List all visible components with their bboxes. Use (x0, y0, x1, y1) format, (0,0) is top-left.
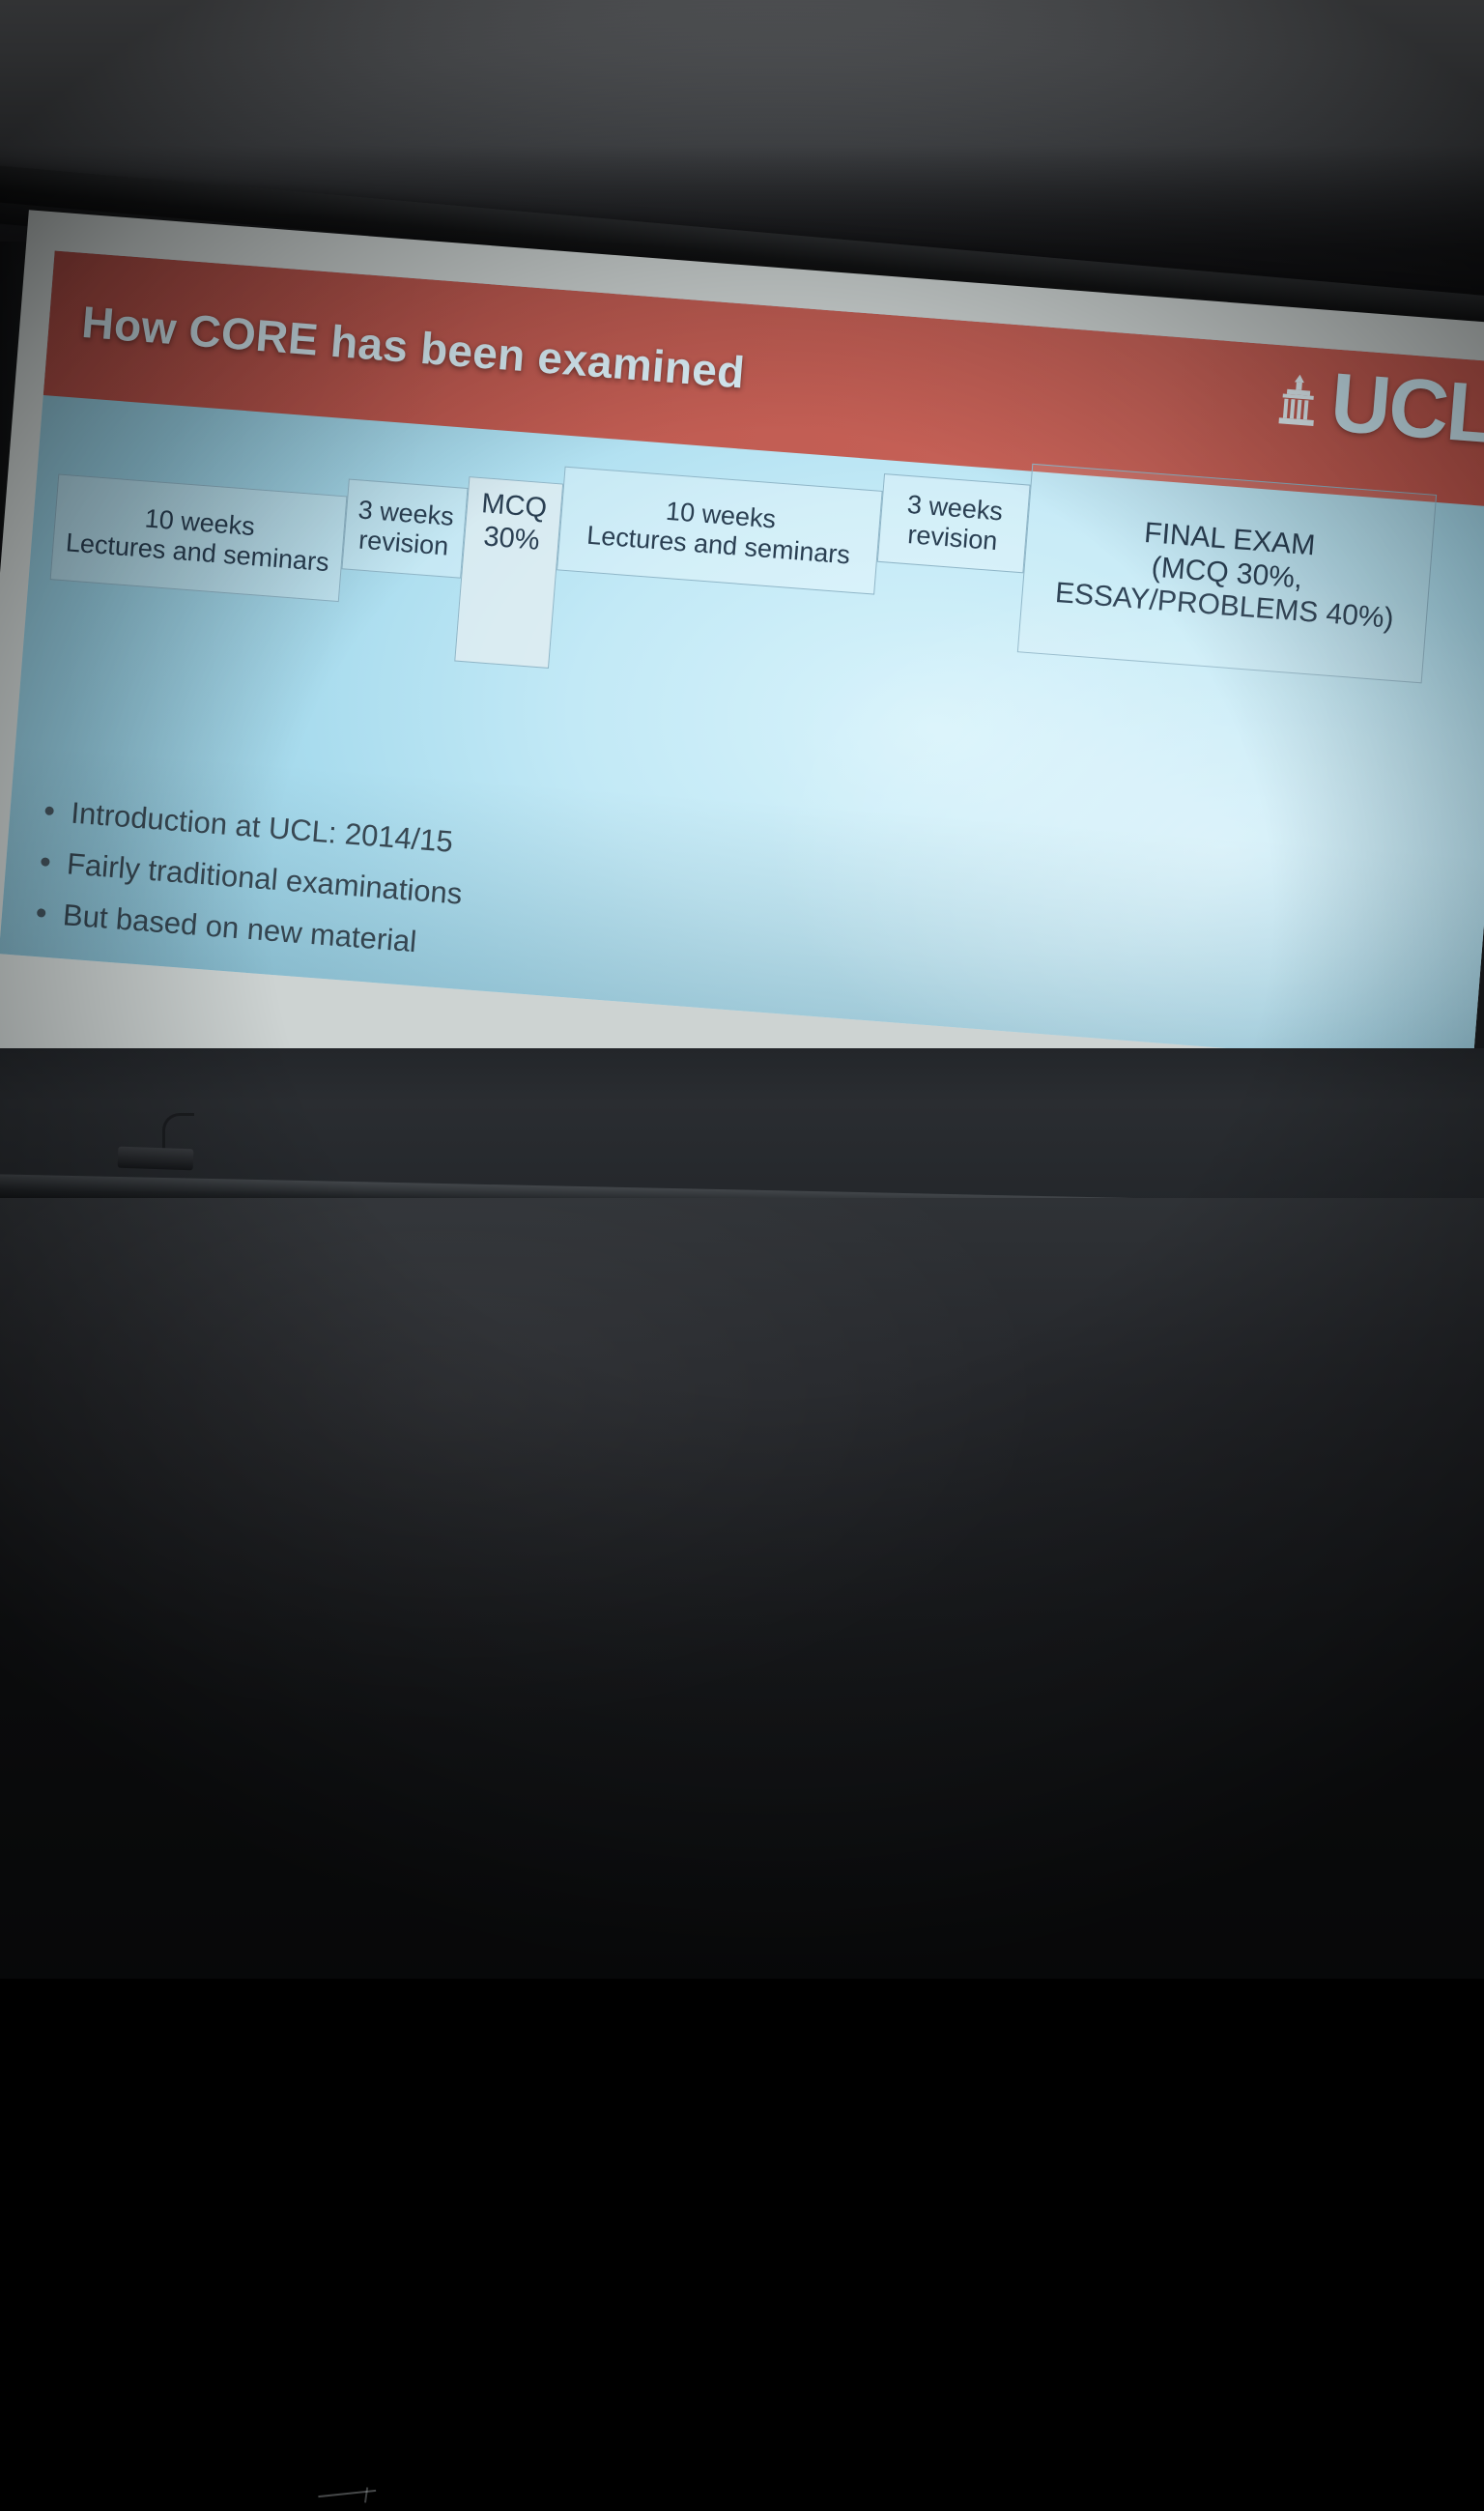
board-scuff-mark (364, 2487, 389, 2505)
table-cell-weeks10a: 10 weeks Lectures and seminars (50, 473, 348, 602)
whiteboard-marker (118, 1147, 194, 1171)
slide-bullet-list: Introduction at UCL: 2014/15 Fairly trad… (35, 792, 914, 1012)
cell-line2: revision (357, 526, 449, 561)
bullet-dot-icon (44, 806, 54, 815)
ucl-portico-icon (1271, 371, 1326, 429)
table-cell-revision3b: 3 weeks revision (877, 473, 1031, 573)
bullet-dot-icon (41, 857, 50, 867)
cell-line2: revision (906, 520, 998, 556)
lecture-room-background: How CORE has been examined (0, 0, 1484, 1979)
cell-line1: MCQ (480, 488, 548, 524)
bullet-text: But based on new material (62, 897, 418, 961)
cell-line2: 30% (482, 521, 540, 556)
cell-line2: (MCQ 30%, ESSAY/PROBLEMS 40%) (1054, 551, 1395, 635)
whiteboard-lower-panel (0, 1198, 1484, 1979)
presentation-slide: How CORE has been examined (0, 250, 1484, 1067)
slide-title: How CORE has been examined (80, 296, 747, 399)
ucl-logo: UCL (1270, 357, 1484, 456)
ucl-wordmark: UCL (1327, 360, 1484, 456)
table-cell-mcq: MCQ 30% (454, 476, 563, 669)
projection-screen-assembly: How CORE has been examined (0, 208, 1479, 1188)
bullet-dot-icon (37, 908, 46, 918)
table-cell-weeks10b: 10 weeks Lectures and seminars (556, 467, 883, 595)
table-cell-revision3a: 3 weeks revision (341, 479, 468, 579)
table-cell-final-exam: FINAL EXAM (MCQ 30%, ESSAY/PROBLEMS 40%) (1017, 464, 1437, 684)
